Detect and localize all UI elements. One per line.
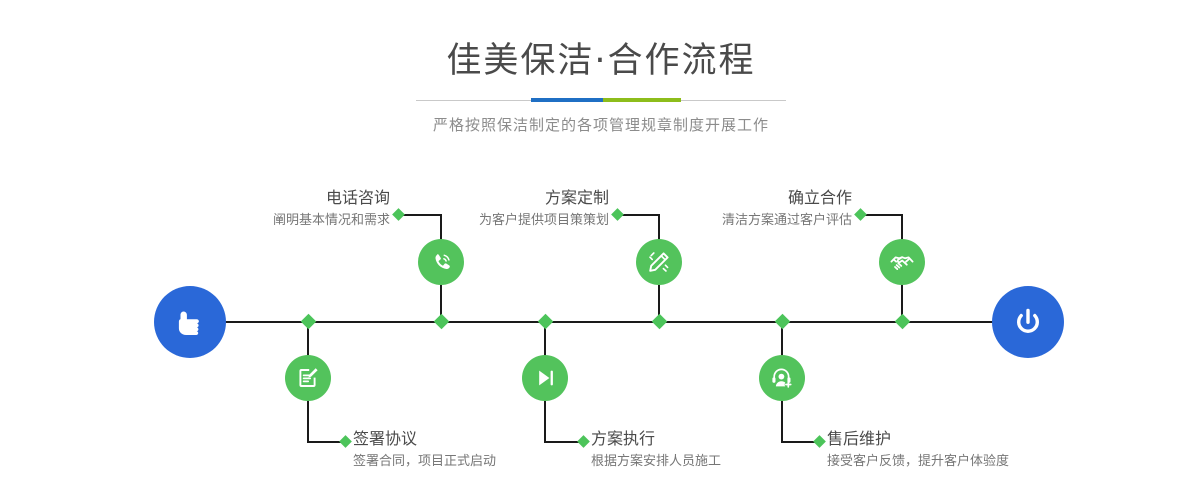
axis-marker-4 <box>538 314 554 330</box>
step-title-3: 方案定制 <box>360 188 609 208</box>
handshake-icon <box>888 248 916 276</box>
step-desc-2: 签署合同，项目正式启动 <box>353 452 613 472</box>
divider-segment-blue <box>531 98 603 102</box>
step-label-6: 售后维护 接受客户反馈，提升客户体验度 <box>827 429 1127 472</box>
step-title-2: 签署协议 <box>353 429 613 449</box>
page-title: 佳美保洁·合作流程 <box>0 40 1202 82</box>
play-execute-icon <box>532 365 558 391</box>
title-divider <box>416 98 786 102</box>
step-title-6: 售后维护 <box>827 429 1127 449</box>
axis-marker-2 <box>301 314 317 330</box>
timeline-end-node <box>992 286 1064 358</box>
cooperation-flow-infographic: 佳美保洁·合作流程 严格按照保洁制定的各项管理规章制度开展工作 <box>0 0 1202 502</box>
customer-service-icon <box>769 365 795 391</box>
step-icon-6[interactable] <box>759 355 805 401</box>
connector-v-2b <box>307 401 309 442</box>
power-icon <box>1008 302 1048 342</box>
phone-call-icon <box>428 249 455 276</box>
step-title-5: 确立合作 <box>602 188 852 208</box>
document-edit-icon <box>295 365 321 391</box>
step-icon-4[interactable] <box>522 355 568 401</box>
step-desc-4: 根据方案安排人员施工 <box>591 452 851 472</box>
step-label-1: 电话咨询 阐明基本情况和需求 <box>140 188 390 231</box>
axis-marker-3 <box>652 314 668 330</box>
pointing-hand-icon <box>170 302 210 342</box>
timeline-start-node <box>154 286 226 358</box>
header: 佳美保洁·合作流程 严格按照保洁制定的各项管理规章制度开展工作 <box>0 0 1202 135</box>
label-marker-2 <box>339 435 352 448</box>
axis-marker-1 <box>434 314 450 330</box>
axis-marker-5 <box>895 314 911 330</box>
pencil-icon <box>646 249 672 275</box>
step-label-5: 确立合作 清洁方案通过客户评估 <box>602 188 852 231</box>
step-icon-2[interactable] <box>285 355 331 401</box>
step-title-1: 电话咨询 <box>140 188 390 208</box>
label-marker-5 <box>854 208 867 221</box>
step-desc-1: 阐明基本情况和需求 <box>140 211 390 231</box>
step-desc-3: 为客户提供项目策策划 <box>360 211 609 231</box>
step-icon-3[interactable] <box>636 239 682 285</box>
step-desc-5: 清洁方案通过客户评估 <box>602 211 852 231</box>
connector-h-5 <box>862 214 903 216</box>
axis-marker-6 <box>775 314 791 330</box>
page-subtitle: 严格按照保洁制定的各项管理规章制度开展工作 <box>0 114 1202 135</box>
divider-segment-green <box>603 98 681 102</box>
connector-v-5 <box>901 214 903 240</box>
step-icon-5[interactable] <box>879 239 925 285</box>
step-label-3: 方案定制 为客户提供项目策策划 <box>360 188 609 231</box>
step-title-4: 方案执行 <box>591 429 851 449</box>
step-label-2: 签署协议 签署合同，项目正式启动 <box>353 429 613 472</box>
step-label-4: 方案执行 根据方案安排人员施工 <box>591 429 851 472</box>
step-desc-6: 接受客户反馈，提升客户体验度 <box>827 452 1127 472</box>
step-icon-1[interactable] <box>418 239 464 285</box>
